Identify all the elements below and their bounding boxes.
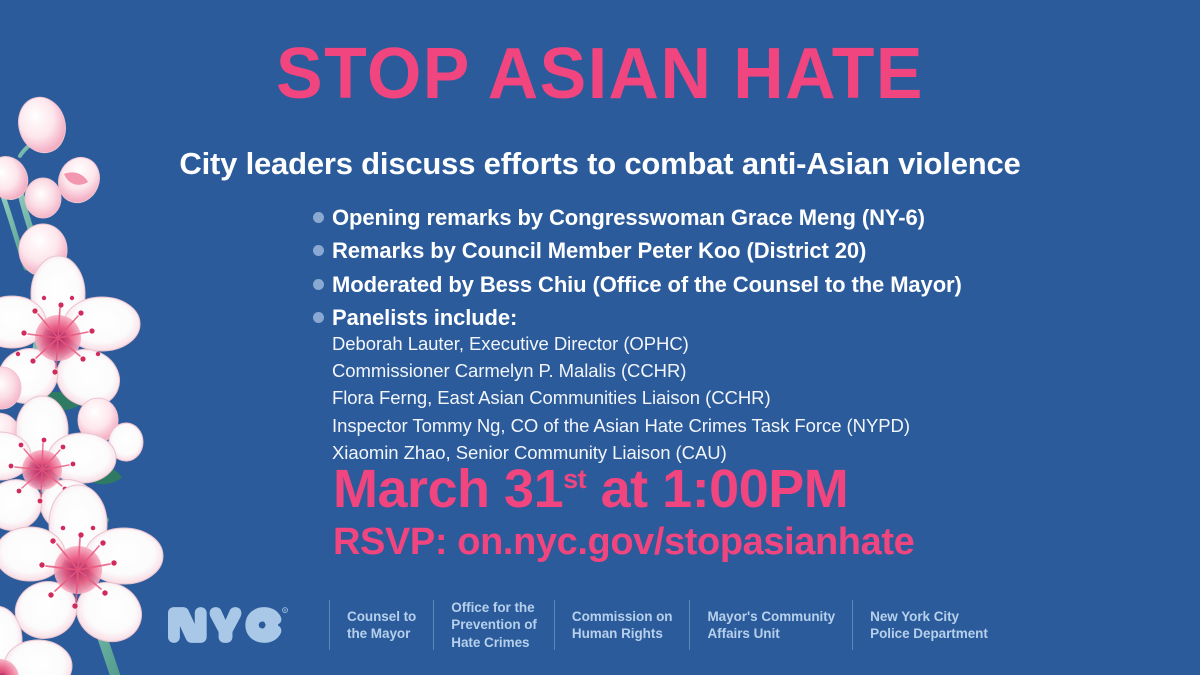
bullet-dot-icon <box>313 279 324 290</box>
bullet-dot-icon <box>313 312 324 323</box>
list-item: Moderated by Bess Chiu (Office of the Co… <box>313 270 1073 300</box>
agenda-item-label: Moderated by Bess Chiu (Office of the Co… <box>332 270 962 300</box>
footer-divider <box>329 600 330 650</box>
agency-name-counsel-to-the-mayor: Counsel to the Mayor <box>347 608 416 643</box>
agency-name-commission-human-rights: Commission on Human Rights <box>572 608 673 643</box>
blossom-flower <box>0 256 140 416</box>
agency-name-nypd: New York City Police Department <box>870 608 988 643</box>
bullet-dot-icon <box>313 212 324 223</box>
agency-logo-lockup: R Counsel to the Mayor Office for the Pr… <box>166 596 988 654</box>
footer-divider <box>852 600 853 650</box>
blossom-flower <box>0 485 163 651</box>
footer-divider <box>433 600 434 650</box>
agenda-item-label: Opening remarks by Congresswoman Grace M… <box>332 203 925 233</box>
footer-divider <box>554 600 555 650</box>
blossom-flower <box>0 396 116 540</box>
date-ordinal-suffix: st <box>563 464 586 494</box>
blossom-flower-partial <box>0 606 72 675</box>
blossom-buds-side <box>0 367 143 461</box>
agency-name-office-prevention-hate-crimes: Office for the Prevention of Hate Crimes <box>451 599 537 651</box>
event-datetime: March 31st at 1:00PM <box>333 462 848 516</box>
list-item: Opening remarks by Congresswoman Grace M… <box>313 203 1073 233</box>
agency-name-mayors-community-affairs-unit: Mayor's Community Affairs Unit <box>707 608 835 643</box>
list-item: Inspector Tommy Ng, CO of the Asian Hate… <box>332 412 1092 439</box>
subtitle: City leaders discuss efforts to combat a… <box>0 145 1200 182</box>
event-date-text: March 31 <box>333 459 563 519</box>
event-flyer: STOP ASIAN HATE City leaders discuss eff… <box>0 0 1200 675</box>
agenda-item-label: Remarks by Council Member Peter Koo (Dis… <box>332 236 866 266</box>
list-item: Panelists include: <box>313 303 1073 333</box>
nyc-wordmark-icon: R <box>166 605 290 645</box>
page-title: STOP ASIAN HATE <box>18 38 1182 110</box>
list-item: Remarks by Council Member Peter Koo (Dis… <box>313 236 1073 266</box>
panelist-list: Deborah Lauter, Executive Director (OPHC… <box>332 330 1092 466</box>
bullet-dot-icon <box>313 245 324 256</box>
list-item: Deborah Lauter, Executive Director (OPHC… <box>332 330 1092 357</box>
rsvp-link[interactable]: RSVP: on.nyc.gov/stopasianhate <box>333 523 914 561</box>
blossom-buds <box>0 92 106 276</box>
event-time-text: at 1:00PM <box>586 459 848 519</box>
footer-divider <box>689 600 690 650</box>
list-item: Commissioner Carmelyn P. Malalis (CCHR) <box>332 357 1092 384</box>
agenda-item-label: Panelists include: <box>332 303 517 333</box>
list-item: Flora Ferng, East Asian Communities Liai… <box>332 384 1092 411</box>
agenda-list: Opening remarks by Congresswoman Grace M… <box>313 203 1073 336</box>
nyc-logo: R <box>166 605 290 645</box>
